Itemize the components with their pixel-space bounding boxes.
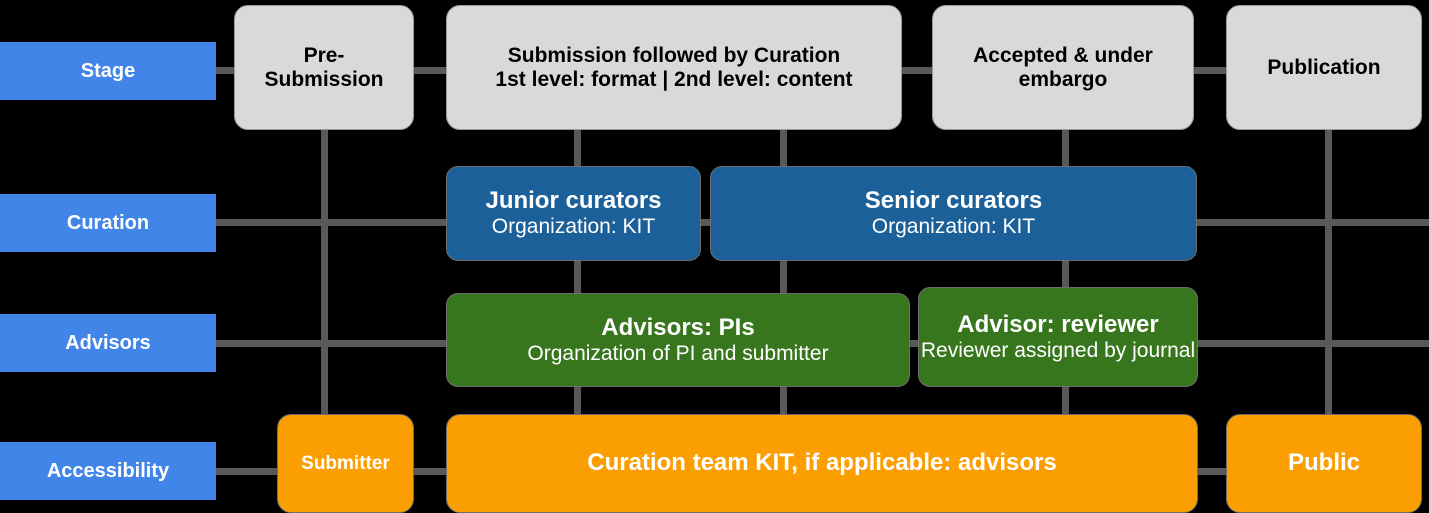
connector-vertical-submission-right-2	[780, 258, 787, 296]
stage-accepted-title: Accepted & under	[973, 44, 1153, 68]
connector-vertical-accepted-2	[1062, 258, 1069, 290]
accessibility-submitter-title: Submitter	[301, 453, 390, 474]
accessibility-node-public[interactable]: Public	[1226, 414, 1422, 513]
accessibility-node-submitter[interactable]: Submitter	[277, 414, 414, 513]
connector-vertical-publication	[1325, 128, 1332, 416]
accessibility-node-curation-team[interactable]: Curation team KIT, if applicable: adviso…	[446, 414, 1198, 513]
advisor-node-reviewer[interactable]: Advisor: reviewer Reviewer assigned by j…	[918, 287, 1198, 387]
stage-node-pre-submission[interactable]: Pre- Submission	[234, 5, 414, 130]
stage-pre-submission-title: Pre-	[304, 44, 345, 68]
curation-senior-subtitle: Organization: KIT	[872, 215, 1035, 239]
connector-vertical-submission-right-3	[780, 384, 787, 416]
connector-horizontal-stage-4	[1190, 67, 1230, 74]
curation-junior-subtitle: Organization: KIT	[492, 215, 655, 239]
connector-horizontal-accessibility	[216, 468, 282, 475]
advisor-pis-title: Advisors: PIs	[601, 315, 754, 342]
curation-node-senior-curators[interactable]: Senior curators Organization: KIT	[710, 166, 1197, 261]
stage-node-submission[interactable]: Submission followed by Curation 1st leve…	[446, 5, 902, 130]
connector-horizontal-curation	[216, 219, 452, 226]
curation-junior-title: Junior curators	[485, 188, 661, 215]
connector-vertical-submission-left	[574, 128, 581, 168]
connector-vertical-accepted	[1062, 128, 1069, 168]
stage-publication-title: Publication	[1267, 56, 1380, 80]
advisor-reviewer-title: Advisor: reviewer	[957, 312, 1158, 339]
connector-horizontal-advisors	[216, 340, 452, 347]
stage-submission-subtitle: 1st level: format | 2nd level: content	[495, 68, 852, 92]
connector-horizontal-accessibility-2	[409, 468, 451, 475]
row-label-accessibility: Accessibility	[0, 442, 216, 500]
advisor-pis-subtitle: Organization of PI and submitter	[527, 342, 828, 366]
connector-horizontal-curation-3	[1193, 219, 1429, 226]
row-label-advisors-text: Advisors	[65, 332, 151, 354]
connector-vertical-submission-left-3	[574, 384, 581, 416]
accessibility-public-title: Public	[1288, 450, 1360, 477]
row-label-curation-text: Curation	[67, 212, 149, 234]
stage-pre-submission-subtitle: Submission	[264, 68, 383, 92]
accessibility-curation-team-title: Curation team KIT, if applicable: adviso…	[587, 450, 1056, 477]
advisor-reviewer-subtitle: Reviewer assigned by journal	[921, 339, 1195, 363]
advisor-node-pis[interactable]: Advisors: PIs Organization of PI and sub…	[446, 293, 910, 387]
connector-horizontal-stage-3	[897, 67, 937, 74]
connector-vertical-submission-left-2	[574, 258, 581, 296]
row-label-accessibility-text: Accessibility	[47, 460, 169, 482]
curation-node-junior-curators[interactable]: Junior curators Organization: KIT	[446, 166, 701, 261]
connector-vertical-accepted-3	[1062, 384, 1069, 416]
curation-senior-title: Senior curators	[865, 188, 1042, 215]
row-label-stage-text: Stage	[81, 60, 135, 82]
stage-node-accepted-under-embargo[interactable]: Accepted & under embargo	[932, 5, 1194, 130]
connector-vertical-submission-right	[780, 128, 787, 168]
stage-node-publication[interactable]: Publication	[1226, 5, 1422, 130]
row-label-stage: Stage	[0, 42, 216, 100]
stage-accepted-subtitle: embargo	[1019, 68, 1108, 92]
connector-horizontal-advisors-3	[1194, 340, 1429, 347]
row-label-advisors: Advisors	[0, 314, 216, 372]
workflow-diagram: Stage Curation Advisors Accessibility Pr…	[0, 0, 1429, 513]
stage-submission-title: Submission followed by Curation	[508, 44, 841, 68]
row-label-curation: Curation	[0, 194, 216, 252]
